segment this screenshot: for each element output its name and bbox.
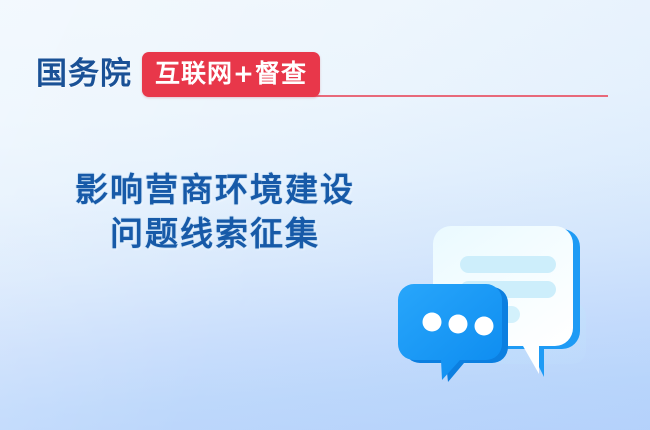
page-title-line-1: 影响营商环境建设 — [0, 168, 430, 212]
banner-header: 国务院 互联网+督查 — [36, 52, 320, 97]
chat-bubbles-svg — [398, 202, 628, 402]
header-divider-line — [290, 95, 608, 97]
gov-council-label: 国务院 — [36, 59, 132, 90]
internet-plus-supervision-badge: 互联网+督查 — [142, 52, 320, 97]
page-title: 影响营商环境建设 问题线索征集 — [0, 168, 430, 255]
campaign-banner: 国务院 互联网+督查 影响营商环境建设 问题线索征集 — [0, 0, 650, 430]
chat-bubbles-illustration — [398, 202, 628, 402]
page-title-line-2: 问题线索征集 — [0, 212, 430, 256]
